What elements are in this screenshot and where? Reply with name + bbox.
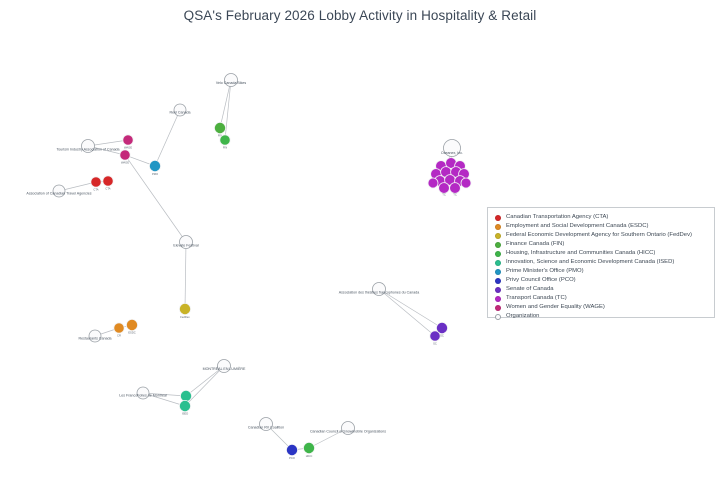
graph-node-government[interactable]: WAGE: [120, 150, 130, 165]
legend-item-label: Prime Minister's Office (PMO): [506, 269, 584, 275]
graph-node-organization[interactable]: Reel Canada: [170, 104, 191, 116]
graph-node-label: CTA: [105, 187, 110, 191]
graph-node-government[interactable]: ISED: [179, 400, 190, 415]
legend-item-label: Finance Canada (FIN): [506, 242, 564, 248]
graph-node-government[interactable]: WAGE: [123, 135, 133, 150]
legend-item-label: Canadian Transportation Agency (CTA): [506, 215, 608, 221]
graph-node-label: TC: [453, 193, 457, 197]
graph-node-label: CTA: [93, 188, 98, 192]
legend-item-label: Federal Economic Development Agency for …: [506, 233, 692, 239]
legend-swatch-icon: [495, 260, 501, 266]
graph-node-label: Elevate Festival: [173, 244, 199, 248]
legend-item[interactable]: Housing, Infrastructure and Communities …: [495, 249, 708, 258]
graph-node-government[interactable]: [428, 178, 438, 188]
legend-swatch-icon: [495, 233, 501, 239]
graph-edge: [220, 80, 231, 128]
graph-node-label: HICC: [306, 454, 313, 458]
legend: Canadian Transportation Agency (CTA)Empl…: [487, 207, 715, 318]
graph-node-organization[interactable]: Canadian Council of Snowmobile Organizat…: [310, 422, 386, 435]
legend-item[interactable]: Finance Canada (FIN): [495, 240, 708, 249]
graph-node-label: Velo Canada Bikes: [216, 81, 247, 85]
legend-item[interactable]: Federal Economic Development Agency for …: [495, 231, 708, 240]
graph-node-government[interactable]: CTA: [91, 177, 101, 192]
legend-swatch-icon: [495, 314, 501, 320]
legend-swatch-icon: [495, 269, 501, 275]
legend-item-label: Organization: [506, 314, 539, 320]
legend-swatch-icon: [495, 296, 501, 302]
graph-node-organization[interactable]: Elevate Festival: [173, 236, 199, 249]
graph-edge: [379, 289, 435, 336]
graph-edge: [225, 80, 231, 140]
graph-node-label: MONTRÉAL EN LUMIÈRE: [203, 366, 246, 371]
graph-node-organization[interactable]: Les FrancoFolies de Montréal: [119, 387, 167, 399]
graph-node-label: Canadian Council of Snowmobile Organizat…: [310, 430, 386, 434]
graph-node-label: ISED: [182, 412, 188, 416]
graph-edge: [379, 289, 442, 328]
graph-node-label: Restaurants Canada: [79, 337, 112, 341]
graph-node-label: TC: [442, 193, 446, 197]
graph-node-label: Les FrancoFolies de Montréal: [119, 394, 167, 398]
graph-node-label: Tourism Industry Association of Canada: [56, 148, 119, 152]
legend-item[interactable]: Organization: [495, 313, 708, 322]
legend-item[interactable]: Transport Canada (TC): [495, 294, 708, 303]
graph-node-label: WAGE: [121, 161, 129, 165]
graph-node-label: PCO: [289, 456, 295, 460]
graph-node-government[interactable]: [461, 178, 471, 188]
graph-edge: [155, 110, 180, 166]
graph-node-label: WAGE: [124, 146, 132, 150]
graph-node-government[interactable]: SC: [430, 331, 440, 346]
graph-node-organization[interactable]: MONTRÉAL EN LUMIÈRE: [203, 360, 246, 373]
graph-node-label: FedDev: [180, 315, 190, 319]
graph-node-government[interactable]: FIN: [220, 135, 230, 150]
graph-node-organization[interactable]: Association des théâtres francophones du…: [339, 283, 420, 296]
graph-node-government[interactable]: PMO: [149, 160, 160, 175]
graph-node-government[interactable]: HICC: [303, 442, 314, 457]
legend-swatch-icon: [495, 278, 501, 284]
legend-swatch-icon: [495, 287, 501, 293]
legend-item[interactable]: Innovation, Science and Economic Develop…: [495, 258, 708, 267]
graph-node-label: FIN: [223, 146, 227, 150]
legend-item[interactable]: Women and Gender Equality (WAGE): [495, 303, 708, 312]
graph-node-label: Oceanex, Inc.: [441, 151, 463, 155]
graph-node-organization[interactable]: Velo Canada Bikes: [216, 74, 247, 87]
nodes-layer: Velo Canada BikesReel CanadaTourism Indu…: [26, 74, 471, 460]
graph-node-label: CR: [117, 334, 121, 338]
legend-item-label: Employment and Social Development Canada…: [506, 224, 648, 230]
graph-node-label: SC: [433, 342, 437, 346]
graph-node-government[interactable]: CTA: [103, 176, 113, 191]
legend-item-label: Innovation, Science and Economic Develop…: [506, 260, 674, 266]
graph-node-label: PMO: [152, 172, 158, 176]
graph-node-organization[interactable]: Canadian RV Coalition: [248, 418, 284, 431]
graph-node-organization[interactable]: Association of Canadian Travel Agencies: [26, 185, 91, 197]
legend-item[interactable]: Prime Minister's Office (PMO): [495, 267, 708, 276]
graph-node-government[interactable]: TC: [450, 183, 461, 197]
legend-swatch-icon: [495, 224, 501, 230]
legend-item-label: Transport Canada (TC): [506, 296, 567, 302]
graph-edge: [185, 366, 224, 406]
legend-item-label: Housing, Infrastructure and Communities …: [506, 251, 655, 257]
legend-item[interactable]: Privy Council Office (PCO): [495, 276, 708, 285]
graph-node-government[interactable]: ESDC: [126, 319, 137, 334]
graph-node-organization[interactable]: Tourism Industry Association of Canada: [56, 140, 119, 153]
graph-node-label: Association des théâtres francophones du…: [339, 291, 420, 295]
graph-node-organization[interactable]: Oceanex, Inc.: [441, 140, 463, 157]
graph-node-government[interactable]: TC: [439, 183, 450, 197]
graph-node-label: Association of Canadian Travel Agencies: [26, 192, 91, 196]
legend-item-label: Privy Council Office (PCO): [506, 278, 576, 284]
legend-item[interactable]: Canadian Transportation Agency (CTA): [495, 213, 708, 222]
legend-item[interactable]: Senate of Canada: [495, 285, 708, 294]
graph-node-government[interactable]: FedDev: [179, 303, 190, 318]
legend-swatch-icon: [495, 215, 501, 221]
legend-item[interactable]: Employment and Social Development Canada…: [495, 222, 708, 231]
edges-layer: [59, 80, 452, 450]
legend-item-label: Senate of Canada: [506, 287, 554, 293]
graph-node-label: ESDC: [128, 331, 136, 335]
legend-swatch-icon: [495, 242, 501, 248]
graph-node-label: SC: [440, 334, 444, 338]
legend-swatch-icon: [495, 251, 501, 257]
legend-swatch-icon: [495, 305, 501, 311]
graph-node-government[interactable]: PCO: [286, 444, 297, 459]
graph-node-label: Reel Canada: [170, 111, 191, 115]
graph-node-label: Canadian RV Coalition: [248, 426, 284, 430]
graph-node-government[interactable]: CR: [114, 323, 124, 338]
graph-edge: [185, 242, 186, 309]
legend-item-label: Women and Gender Equality (WAGE): [506, 305, 605, 311]
